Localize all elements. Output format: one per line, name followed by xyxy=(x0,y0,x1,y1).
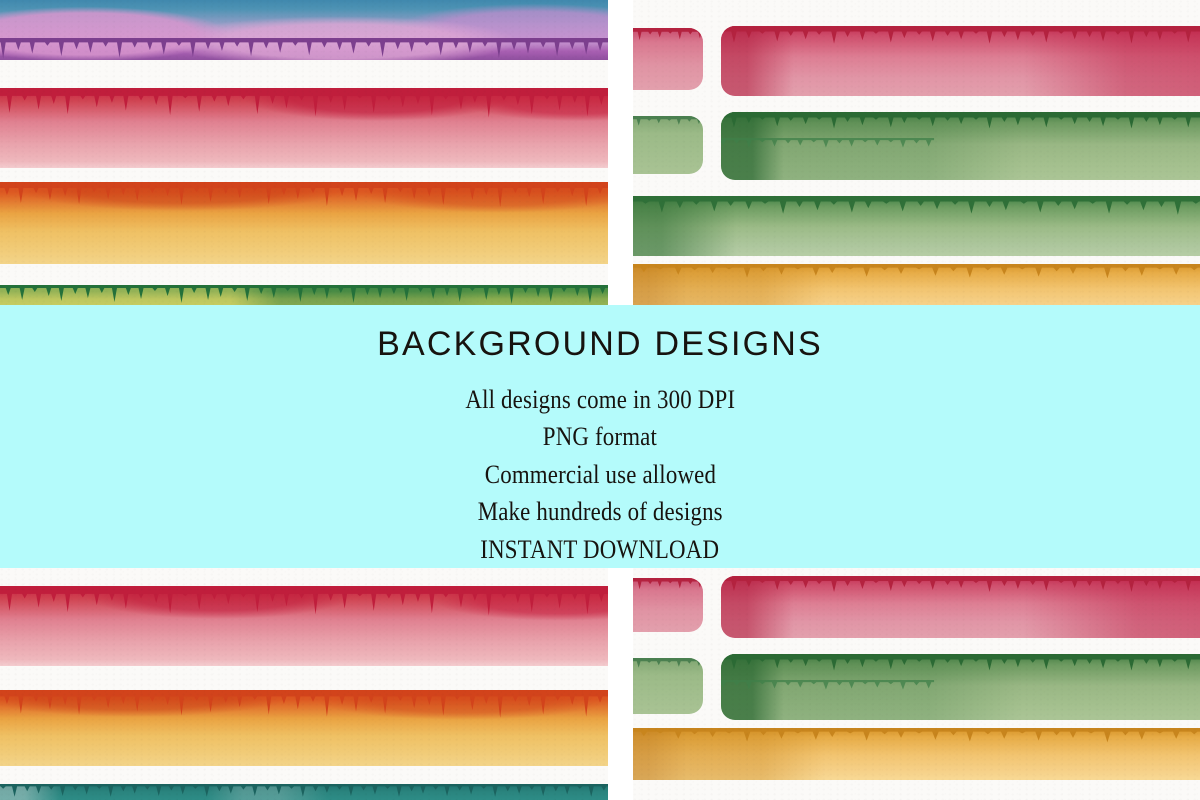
green-olive-stripe xyxy=(0,285,608,305)
watercolor-preview-bottom-left[interactable] xyxy=(0,568,608,800)
caption-line-format: PNG format xyxy=(543,418,657,455)
page-title: BACKGROUND DESIGNS xyxy=(377,327,823,361)
pink-brush-stroke xyxy=(721,576,1200,638)
orange-yellow-stripe xyxy=(0,690,608,766)
caption-line-delivery: INSTANT DOWNLOAD xyxy=(481,531,720,568)
caption-line-dpi: All designs come in 300 DPI xyxy=(465,381,735,418)
green-brush-stroke-2 xyxy=(633,196,1200,256)
teal-stripe xyxy=(0,784,608,800)
green-brush-stroke xyxy=(721,654,1200,720)
orange-brush-stroke xyxy=(633,728,1200,780)
watercolor-preview-bottom-right[interactable] xyxy=(633,568,1200,800)
crimson-pink-stripe xyxy=(0,586,608,666)
watercolor-preview-top-right[interactable] xyxy=(633,0,1200,305)
orange-yellow-stripe xyxy=(0,182,608,264)
watercolor-preview-top-left[interactable] xyxy=(0,0,608,305)
green-brush-stroke-cap xyxy=(633,658,703,714)
green-brush-stroke-cap xyxy=(633,116,703,174)
caption-band: BACKGROUND DESIGNS All designs come in 3… xyxy=(0,305,1200,568)
crimson-pink-stripe xyxy=(0,88,608,168)
caption-line-license: Commercial use allowed xyxy=(484,456,715,493)
orange-brush-stroke xyxy=(633,264,1200,305)
pink-brush-stroke-cap xyxy=(633,578,703,632)
blue-purple-stripe xyxy=(0,0,608,60)
caption-line-usage: Make hundreds of designs xyxy=(477,493,722,530)
pink-brush-stroke-cap xyxy=(633,28,703,90)
product-mockup-canvas: BACKGROUND DESIGNS All designs come in 3… xyxy=(0,0,1200,800)
pink-brush-stroke xyxy=(721,26,1200,96)
green-brush-stroke xyxy=(721,112,1200,180)
